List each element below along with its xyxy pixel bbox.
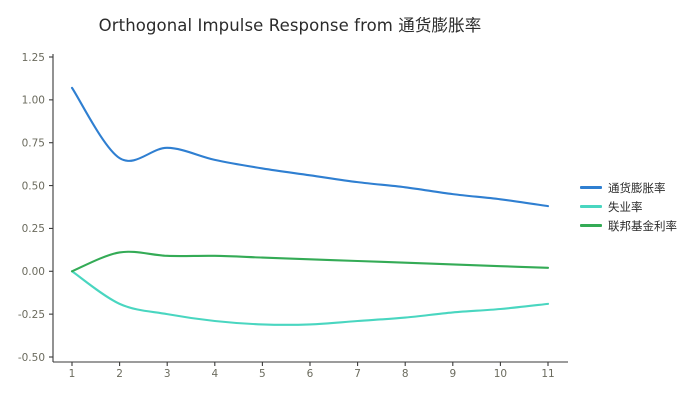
x-tick-label: 1 — [69, 368, 76, 380]
y-tick-label: 0.75 — [22, 138, 45, 150]
x-tick-label: 7 — [354, 368, 361, 380]
series-line-0 — [72, 88, 548, 206]
legend-item-label: 联邦基金利率 — [608, 218, 677, 234]
x-tick-label: 6 — [307, 368, 314, 380]
x-tick-label: 5 — [259, 368, 266, 380]
x-tick-label: 4 — [211, 368, 218, 380]
y-tick-label: -0.50 — [18, 352, 45, 364]
y-tick-label: 0.00 — [22, 266, 45, 278]
series-line-2 — [72, 252, 548, 272]
legend-item[interactable]: 失业率 — [580, 197, 687, 216]
legend-swatch-icon — [580, 205, 602, 208]
legend-item-label: 通货膨胀率 — [608, 180, 666, 196]
impulse-response-chart: Orthogonal Impulse Response from 通货膨胀率 1… — [0, 0, 687, 400]
y-tick-label: -0.25 — [18, 309, 45, 321]
series-line-1 — [72, 271, 548, 325]
y-tick-label: 1.00 — [22, 95, 45, 107]
x-tick-label: 11 — [541, 368, 554, 380]
y-axis-ticks: 1.251.000.750.500.250.00-0.25-0.50 — [18, 52, 53, 364]
y-tick-label: 0.50 — [22, 180, 45, 192]
x-tick-label: 2 — [116, 368, 123, 380]
y-tick-label: 0.25 — [22, 223, 45, 235]
legend-item[interactable]: 通货膨胀率 — [580, 178, 687, 197]
legend-item-label: 失业率 — [608, 199, 643, 215]
x-axis-ticks: 1234567891011 — [69, 362, 555, 380]
legend-swatch-icon — [580, 186, 602, 189]
x-tick-label: 8 — [402, 368, 409, 380]
x-tick-label: 3 — [164, 368, 171, 380]
x-tick-label: 9 — [449, 368, 456, 380]
y-tick-label: 1.25 — [22, 52, 45, 64]
data-series-group — [72, 88, 548, 325]
x-tick-label: 10 — [494, 368, 507, 380]
chart-legend: 通货膨胀率失业率联邦基金利率 — [580, 178, 687, 235]
legend-swatch-icon — [580, 224, 602, 227]
legend-item[interactable]: 联邦基金利率 — [580, 216, 687, 235]
